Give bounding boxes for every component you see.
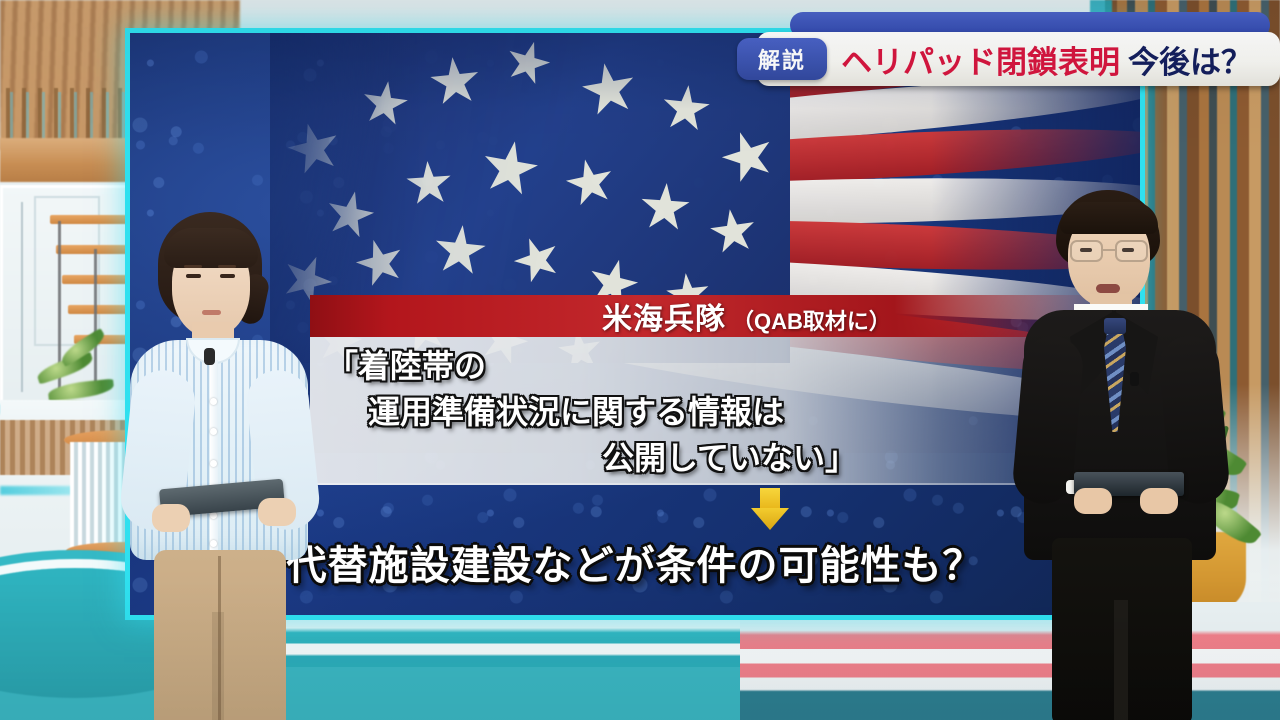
quote-source-bar: 米海兵隊 （QAB取材に） bbox=[310, 295, 1100, 337]
headline-tag-badge: 解説 bbox=[737, 38, 827, 80]
lapel-microphone-icon bbox=[204, 348, 215, 365]
headline-sub-text: 今後は？ bbox=[1128, 37, 1252, 82]
quote-text-block: 「着陸帯の 運用準備状況に関する情報は 公開していない」 bbox=[310, 337, 1100, 485]
quote-line: 運用準備状況に関する情報は bbox=[322, 389, 1092, 435]
lapel-microphone-icon bbox=[1130, 372, 1139, 386]
headline-capsule: 解説 ヘリパッド閉鎖表明 今後は？ bbox=[757, 32, 1280, 86]
quote-source-name: 米海兵隊 bbox=[602, 294, 726, 338]
headline-bar: 解説 ヘリパッド閉鎖表明 今後は？ bbox=[745, 12, 1280, 94]
headline-text: ヘリパッド閉鎖表明 今後は？ bbox=[841, 37, 1252, 82]
quote-line: 「着陸帯の bbox=[322, 343, 1092, 389]
quote-body-panel: 「着陸帯の 運用準備状況に関する情報は 公開していない」 bbox=[310, 337, 1100, 485]
down-arrow-icon bbox=[751, 488, 789, 530]
presenter-right-male bbox=[1012, 190, 1242, 720]
presenter-left-female bbox=[112, 212, 332, 720]
quote-source-attribution: （QAB取材に） bbox=[732, 304, 891, 336]
quote-line: 公開していない」 bbox=[322, 435, 1092, 481]
headline-main-text: ヘリパッド閉鎖表明 bbox=[841, 37, 1120, 82]
broadcast-screenshot: 米海兵隊 （QAB取材に） 「着陸帯の 運用準備状況に関する情報は 公開していな… bbox=[0, 0, 1280, 720]
glasses-icon bbox=[1070, 240, 1150, 262]
